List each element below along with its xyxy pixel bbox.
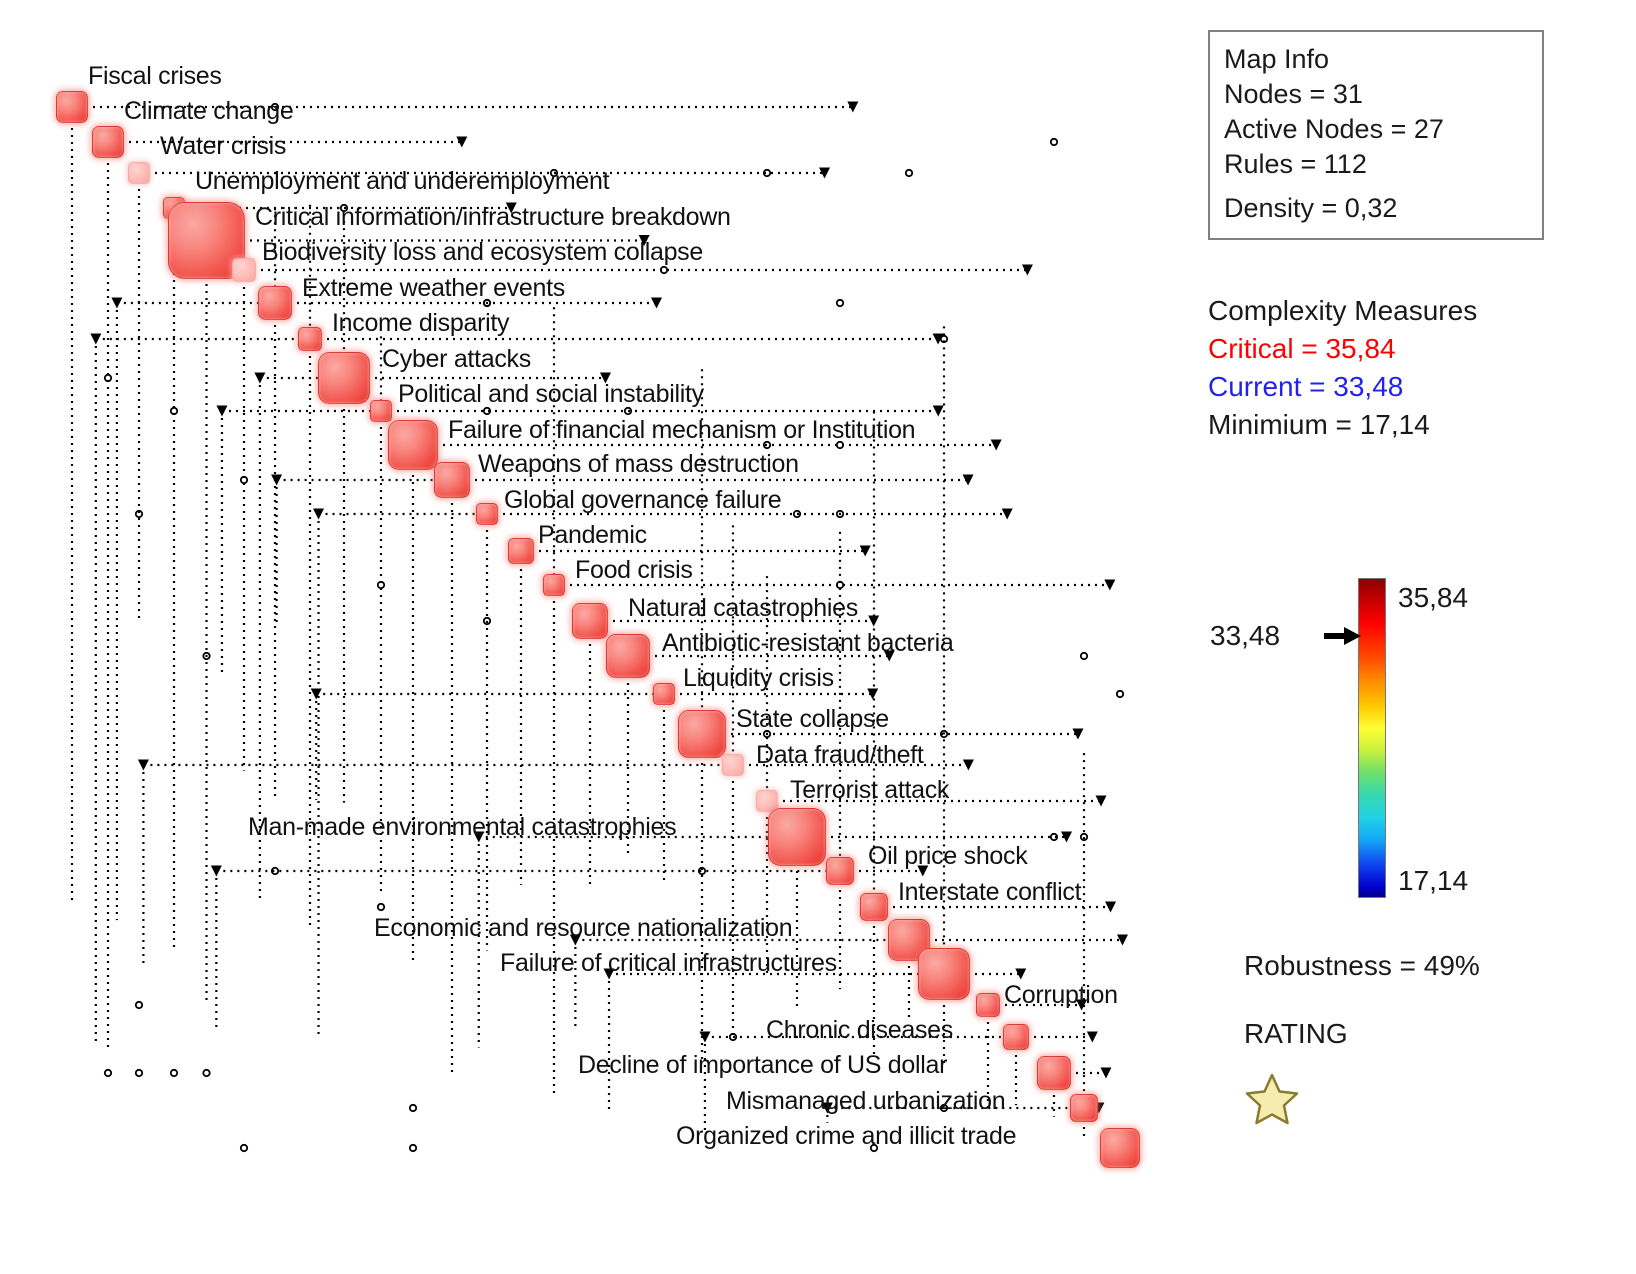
map-info-rules: Rules = 112	[1224, 147, 1542, 182]
map-node[interactable]	[298, 327, 322, 351]
map-node[interactable]	[434, 462, 470, 498]
map-node-label: Failure of financial mechanism or Instit…	[448, 418, 915, 443]
map-info-title: Map Info	[1224, 42, 1542, 77]
map-node[interactable]	[128, 162, 150, 184]
map-info-nodes: Nodes = 31	[1224, 77, 1542, 112]
map-node-label: Oil price shock	[868, 844, 1027, 869]
map-node-label: Man-made environmental catastrophies	[248, 815, 676, 840]
map-node[interactable]	[918, 948, 970, 1000]
map-node-label: Global governance failure	[504, 488, 781, 513]
complexity-critical: Critical = 35,84	[1208, 330, 1608, 368]
map-node[interactable]	[606, 634, 650, 678]
info-panel: Map Info Nodes = 31 Active Nodes = 27 Ru…	[1172, 0, 1636, 1274]
rating-label: RATING	[1244, 1018, 1348, 1050]
map-node-label: Political and social instability	[398, 382, 704, 407]
complexity-title: Complexity Measures	[1208, 292, 1608, 330]
map-node-label: Antibiotic-resistant bacteria	[662, 631, 953, 656]
colorbar-max-label: 35,84	[1398, 582, 1468, 614]
map-node-label: Organized crime and illicit trade	[676, 1124, 1016, 1149]
map-node[interactable]	[318, 352, 370, 404]
map-node[interactable]	[1037, 1056, 1071, 1090]
map-node[interactable]	[826, 857, 854, 885]
map-node-label: Extreme weather events	[302, 276, 565, 301]
colorbar-pointer-icon	[1324, 626, 1362, 646]
map-node[interactable]	[1003, 1024, 1029, 1050]
map-node-label: Chronic diseases	[766, 1018, 953, 1043]
colorbar-current-label: 33,48	[1210, 620, 1280, 652]
map-node-label: Climate change	[124, 99, 294, 124]
map-node[interactable]	[232, 258, 256, 282]
map-node-label: State collapse	[736, 707, 889, 732]
map-node[interactable]	[653, 683, 675, 705]
map-node-label: Critical information/infrastructure brea…	[255, 205, 731, 230]
map-node[interactable]	[388, 420, 438, 470]
map-node-label: Pandemic	[538, 523, 647, 548]
map-node-label: Income disparity	[332, 311, 509, 336]
robustness-value: Robustness = 49%	[1244, 950, 1480, 982]
map-node-label: Biodiversity loss and ecosystem collapse	[262, 240, 703, 265]
map-node-label: Corruption	[1004, 983, 1118, 1008]
map-node[interactable]	[860, 893, 888, 921]
colorbar-legend: 35,84 17,14 33,48	[1172, 560, 1636, 920]
map-info-active-nodes: Active Nodes = 27	[1224, 112, 1542, 147]
map-node[interactable]	[543, 574, 565, 596]
map-node[interactable]	[572, 603, 608, 639]
map-node[interactable]	[508, 538, 534, 564]
map-node[interactable]	[258, 286, 292, 320]
colorbar-min-label: 17,14	[1398, 865, 1468, 897]
map-node[interactable]	[476, 503, 498, 525]
map-node-label: Natural catastrophies	[628, 596, 858, 621]
star-icon	[1244, 1072, 1300, 1126]
map-node-label: Economic and resource nationalization	[374, 916, 792, 941]
map-node-label: Interstate conflict	[898, 880, 1081, 905]
map-node-label: Mismanaged urbanization	[726, 1089, 1005, 1114]
map-node[interactable]	[678, 710, 726, 758]
complexity-measures-block: Complexity Measures Critical = 35,84 Cur…	[1208, 292, 1608, 444]
complexity-minimum: Minimium = 17,14	[1208, 406, 1608, 444]
map-node-label: Weapons of mass destruction	[478, 452, 799, 477]
map-node[interactable]	[370, 400, 392, 422]
map-node-label: Fiscal crises	[88, 64, 222, 89]
map-node[interactable]	[56, 91, 88, 123]
map-info-box: Map Info Nodes = 31 Active Nodes = 27 Ru…	[1208, 30, 1544, 240]
map-node[interactable]	[976, 993, 1000, 1017]
map-node-label: Liquidity crisis	[683, 666, 834, 691]
map-node-label: Terrorist attack	[790, 778, 949, 803]
map-node-label: Failure of critical infrastructures	[500, 951, 837, 976]
map-node-label: Data fraud/theft	[756, 743, 924, 768]
map-node[interactable]	[1100, 1128, 1140, 1168]
map-info-density: Density = 0,32	[1224, 191, 1542, 226]
map-node[interactable]	[92, 126, 124, 158]
app-root: Fiscal crisesClimate changeWater crisisU…	[0, 0, 1636, 1274]
map-node[interactable]	[1070, 1094, 1098, 1122]
map-node-label: Unemployment and underemployment	[195, 169, 609, 194]
colorbar-gradient	[1358, 578, 1386, 898]
map-node-label: Food crisis	[575, 558, 693, 583]
complexity-current: Current = 33,48	[1208, 368, 1608, 406]
complexity-map-canvas[interactable]: Fiscal crisesClimate changeWater crisisU…	[0, 0, 1172, 1274]
map-node[interactable]	[722, 754, 744, 776]
map-node[interactable]	[768, 808, 826, 866]
map-node-label: Water crisis	[160, 134, 286, 159]
map-node-label: Decline of importance of US dollar	[578, 1053, 947, 1078]
map-node-label: Cyber attacks	[382, 347, 531, 372]
